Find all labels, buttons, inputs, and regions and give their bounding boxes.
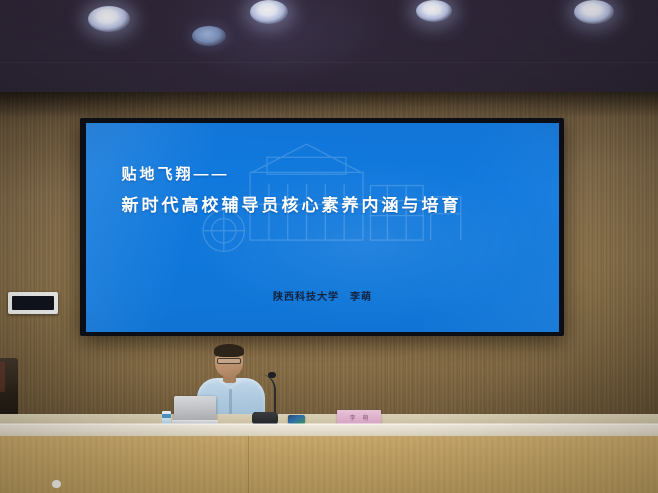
- slide-title-line-2: 新时代高校辅导员核心素养内涵与培育: [121, 191, 461, 216]
- eyeglasses-icon: [217, 358, 241, 364]
- ceiling-seam: [0, 62, 658, 63]
- chair: [0, 358, 18, 416]
- slide-title-line-1: 贴地飞翔——: [121, 163, 461, 184]
- slide-title-block: 贴地飞翔—— 新时代高校辅导员核心素养内涵与培育: [121, 163, 461, 216]
- downlight-4-icon: [416, 0, 452, 22]
- microphone-head-icon: [268, 372, 276, 378]
- downlight-2-icon: [192, 26, 226, 46]
- nameplate-char-2: 萌: [363, 413, 369, 422]
- desk-small-object: [52, 480, 61, 488]
- desk-edge-highlight: [0, 423, 658, 425]
- nameplate-char-1: 李: [349, 413, 355, 422]
- presenter-hair: [214, 344, 244, 357]
- slide-content: 贴地飞翔—— 新时代高校辅导员核心素养内涵与培育 陕西科技大学 李萌: [86, 123, 559, 332]
- laptop: [172, 396, 218, 426]
- wall-vent: [8, 292, 58, 314]
- laptop-lid: [174, 396, 216, 421]
- presentation-screen-frame: 贴地飞翔—— 新时代高校辅导员核心素养内涵与培育 陕西科技大学 李萌: [80, 118, 564, 336]
- downlight-1-icon: [88, 6, 130, 32]
- lecture-hall-photo: 贴地飞翔—— 新时代高校辅导员核心素养内涵与培育 陕西科技大学 李萌 李 萌: [0, 0, 658, 493]
- ceiling: [0, 0, 658, 96]
- downlight-3-icon: [250, 0, 288, 24]
- microphone-gooseneck: [254, 374, 276, 414]
- slide-author: 陕西科技大学 李萌: [86, 288, 559, 303]
- downlight-5-icon: [574, 0, 614, 24]
- desk-panel-seam: [248, 436, 249, 493]
- desk-front-panel: [0, 436, 658, 493]
- presentation-screen: 贴地飞翔—— 新时代高校辅导员核心素养内涵与培育 陕西科技大学 李萌: [86, 123, 559, 332]
